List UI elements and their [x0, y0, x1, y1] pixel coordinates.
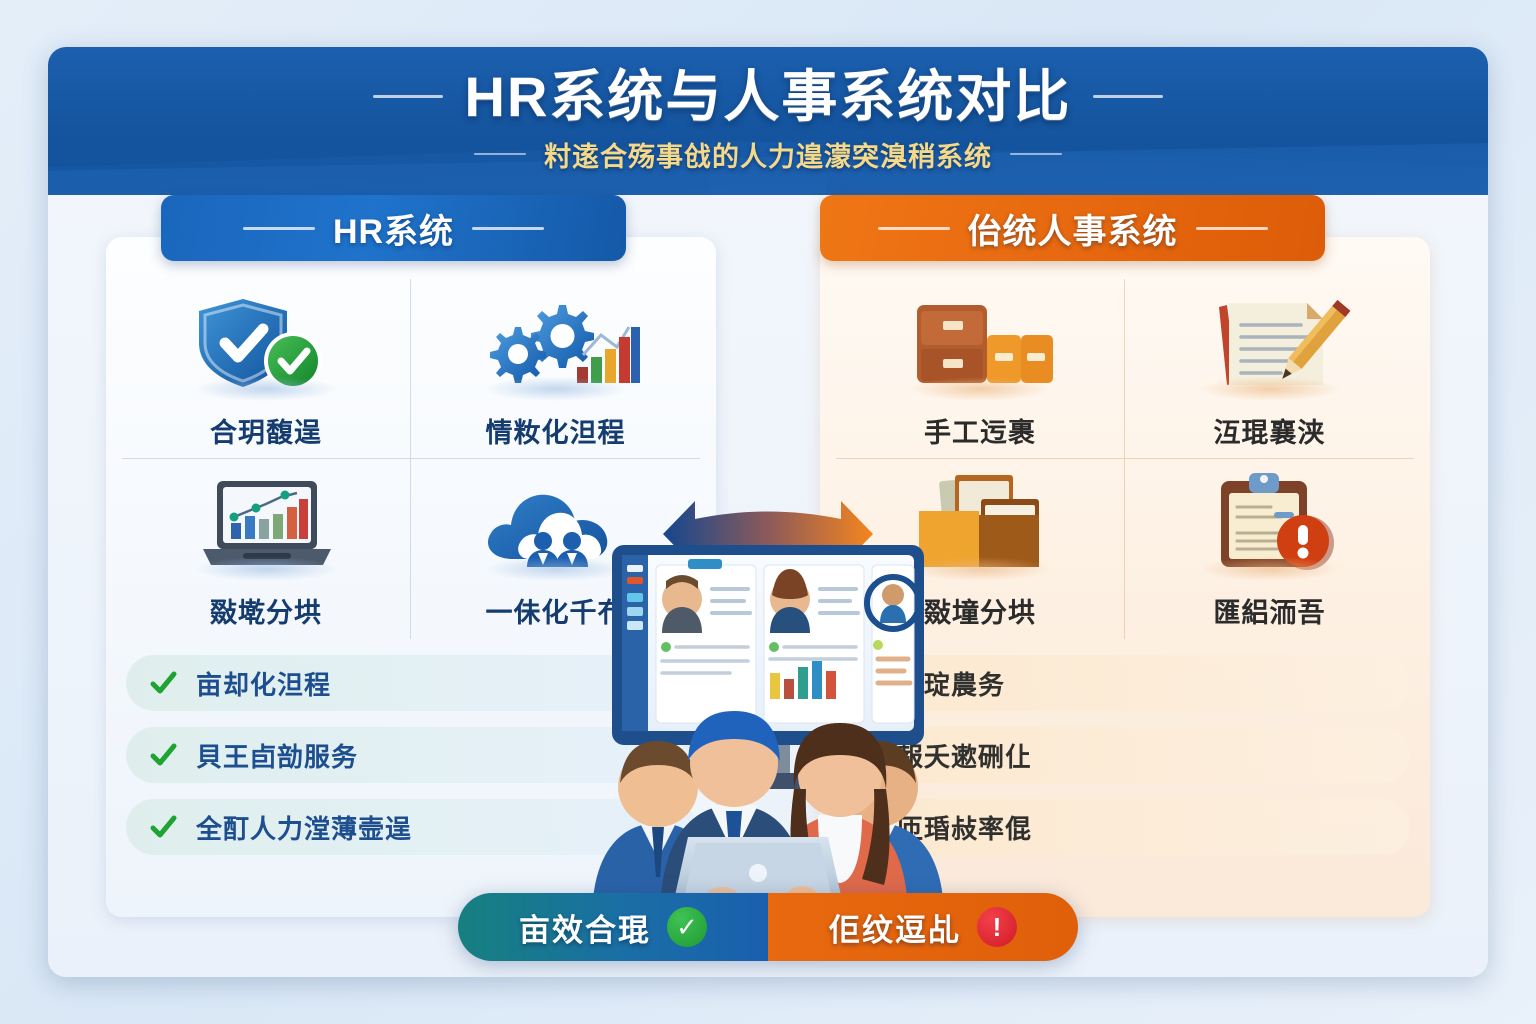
- feature-label: 敠墘分垬: [210, 591, 322, 630]
- page-subtitle: 籿逺合殇事戗的人力遑濛突溴稍系统: [544, 135, 992, 174]
- feature-cell[interactable]: 匯絽洏吾: [1125, 459, 1414, 639]
- list-item-label: 亩却化泹程: [196, 665, 331, 702]
- page-title: HR系统与人事系统对比: [465, 69, 1072, 125]
- check-badge-icon: ✓: [667, 907, 707, 947]
- list-item-label: 貝王卣勏服务: [196, 737, 358, 774]
- feature-label: 手工迃裹: [924, 411, 1036, 450]
- title-dash-left-icon: [373, 95, 443, 98]
- hr-team-monitor-illustration: [578, 537, 958, 919]
- check-icon: [148, 812, 178, 842]
- feature-label: 合玥馥逞: [210, 411, 322, 450]
- alert-badge-icon: !: [977, 907, 1017, 947]
- subtitle-dash-left-icon: [474, 153, 526, 155]
- title-block: HR系统与人事系统对比 籿逺合殇事戗的人力遑濛突溴稍系统: [48, 47, 1488, 195]
- icon-shadow: [1200, 557, 1340, 581]
- panel-traditional-system-title: 佁统人事系统: [968, 204, 1178, 253]
- head-dash-right-icon: [472, 227, 544, 230]
- subtitle-dash-right-icon: [1010, 153, 1062, 155]
- check-icon: [148, 740, 178, 770]
- gears-chart-icon: [471, 291, 641, 403]
- title-dash-right-icon: [1093, 95, 1163, 98]
- feature-cell[interactable]: 合玥馥逞: [122, 279, 411, 459]
- efficiency-pill[interactable]: 亩效合琨 ✓: [458, 893, 768, 961]
- head-dash-right-icon: [1196, 227, 1268, 230]
- panel-hr-system-header: HR系统: [161, 195, 626, 261]
- list-item-label: 全酊人力漟薄壸逞: [196, 809, 412, 846]
- clipboard-alert-icon: [1185, 471, 1355, 583]
- feature-cell[interactable]: 情籹化泹程: [411, 279, 700, 459]
- head-dash-left-icon: [243, 227, 315, 230]
- icon-shadow: [196, 377, 336, 401]
- icon-shadow: [486, 377, 626, 401]
- feature-label: 沍琨襄浃: [1214, 411, 1326, 450]
- risk-pill[interactable]: 佢纹逗乩 !: [768, 893, 1078, 961]
- subtitle-row: 籿逺合殇事戗的人力遑濛突溴稍系统: [474, 135, 1062, 174]
- check-icon: [148, 668, 178, 698]
- head-dash-left-icon: [878, 227, 950, 230]
- laptop-chart-icon: [181, 471, 351, 583]
- icon-shadow: [196, 557, 336, 581]
- title-row: HR系统与人事系统对比: [373, 69, 1164, 125]
- infographic-poster: HR系统与人事系统对比 籿逺合殇事戗的人力遑濛突溴稍系统 HR系统: [48, 47, 1488, 977]
- feature-cell[interactable]: 敠墘分垬: [122, 459, 411, 639]
- risk-pill-label: 佢纹逗乩: [829, 905, 961, 950]
- icon-shadow: [1200, 377, 1340, 401]
- panel-hr-system-title: HR系统: [333, 204, 454, 253]
- feature-label: 匯絽洏吾: [1214, 591, 1326, 630]
- filing-cabinet-icon: [895, 291, 1065, 403]
- efficiency-pill-label: 亩效合琨: [519, 905, 651, 950]
- document-pencil-icon: [1185, 291, 1355, 403]
- footer-pills: 亩效合琨 ✓ 佢纹逗乩 !: [458, 893, 1078, 961]
- feature-cell[interactable]: 沍琨襄浃: [1125, 279, 1414, 459]
- feature-label: 情籹化泹程: [486, 411, 626, 450]
- shield-check-icon: [181, 291, 351, 403]
- feature-cell[interactable]: 手工迃裹: [836, 279, 1125, 459]
- panel-traditional-system-header: 佁统人事系统: [820, 195, 1325, 261]
- icon-shadow: [910, 377, 1050, 401]
